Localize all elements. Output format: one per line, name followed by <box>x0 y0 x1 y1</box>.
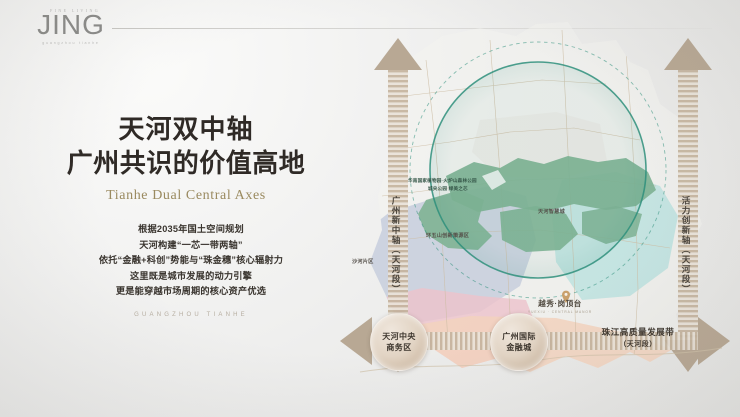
node-tianhe-cbd[interactable]: 天河中央 商务区 <box>370 313 428 371</box>
body-line: 依托“金融+科创”势能与“珠金穗”核心辐射力 <box>46 253 336 269</box>
body-footer-english: GUANGZHOU TIANHE <box>46 312 336 318</box>
body-copy-block: 根据2035年国土空间规划 天河构建“一芯一带两轴” 依托“金融+科创”势能与“… <box>46 222 336 318</box>
poi-label: 越秀·岗顶台 YUEXIU · CENTRAL MANOR <box>528 298 592 314</box>
district-label-smart-city: 天河智慧城 <box>538 208 565 215</box>
node-line-1: 天河中央 <box>382 331 416 342</box>
headline-line-1: 天河双中轴 <box>46 112 326 146</box>
axis-label-right: 活力创新轴（天河段） <box>681 196 691 294</box>
belt-label: 珠江高质量发展带 （天河段） <box>568 326 708 349</box>
tianhe-map: 广州新中轴（天河段） 活力创新轴（天河段） 华南国家植物园·火炉山森林公园 城央… <box>330 0 740 417</box>
headline-line-2: 广州共识的价值高地 <box>46 146 326 180</box>
slide-canvas: FINE LIVING JING guangzhou tianhe 天河双中轴 … <box>0 0 740 417</box>
node-guangzhou-ifc[interactable]: 广州国际 金融城 <box>490 313 548 371</box>
node-guangzhou-ifc-label: 广州国际 金融城 <box>502 331 536 353</box>
node-line-2: 商务区 <box>382 342 416 353</box>
node-line-1: 广州国际 <box>502 331 536 342</box>
poi-label-cn: 越秀·岗顶台 <box>528 298 592 309</box>
node-line-2: 金融城 <box>502 342 536 353</box>
belt-label-line-1: 珠江高质量发展带 <box>568 326 708 338</box>
body-line: 这里既是城市发展的动力引擎 <box>46 269 336 285</box>
body-line: 更是能穿越市场周期的核心资产优选 <box>46 284 336 300</box>
brand-sub-tagline: guangzhou tianhe <box>26 40 116 46</box>
headline-block: 天河双中轴 广州共识的价值高地 Tianhe Dual Central Axes <box>46 112 326 204</box>
district-label-shahe: 沙河片区 <box>352 258 374 265</box>
brand-logo: FINE LIVING JING guangzhou tianhe <box>26 8 116 46</box>
poi-label-en: YUEXIU · CENTRAL MANOR <box>528 310 592 314</box>
body-line: 天河构建“一芯一带两轴” <box>46 238 336 254</box>
body-line: 根据2035年国土空间规划 <box>46 222 336 238</box>
green-core-label-line-1: 华南国家植物园·火炉山森林公园 <box>408 178 477 184</box>
axis-label-left: 广州新中轴（天河段） <box>391 196 401 294</box>
node-tianhe-cbd-label: 天河中央 商务区 <box>382 331 416 353</box>
belt-label-line-2: （天河段） <box>568 339 708 349</box>
green-core-label-line-2: 城央公园 绿美之芯 <box>428 186 468 192</box>
brand-wordmark: JING <box>26 11 116 39</box>
district-label-wushan: 环五山创新策源区 <box>426 232 469 239</box>
headline-english: Tianhe Dual Central Axes <box>46 188 326 204</box>
